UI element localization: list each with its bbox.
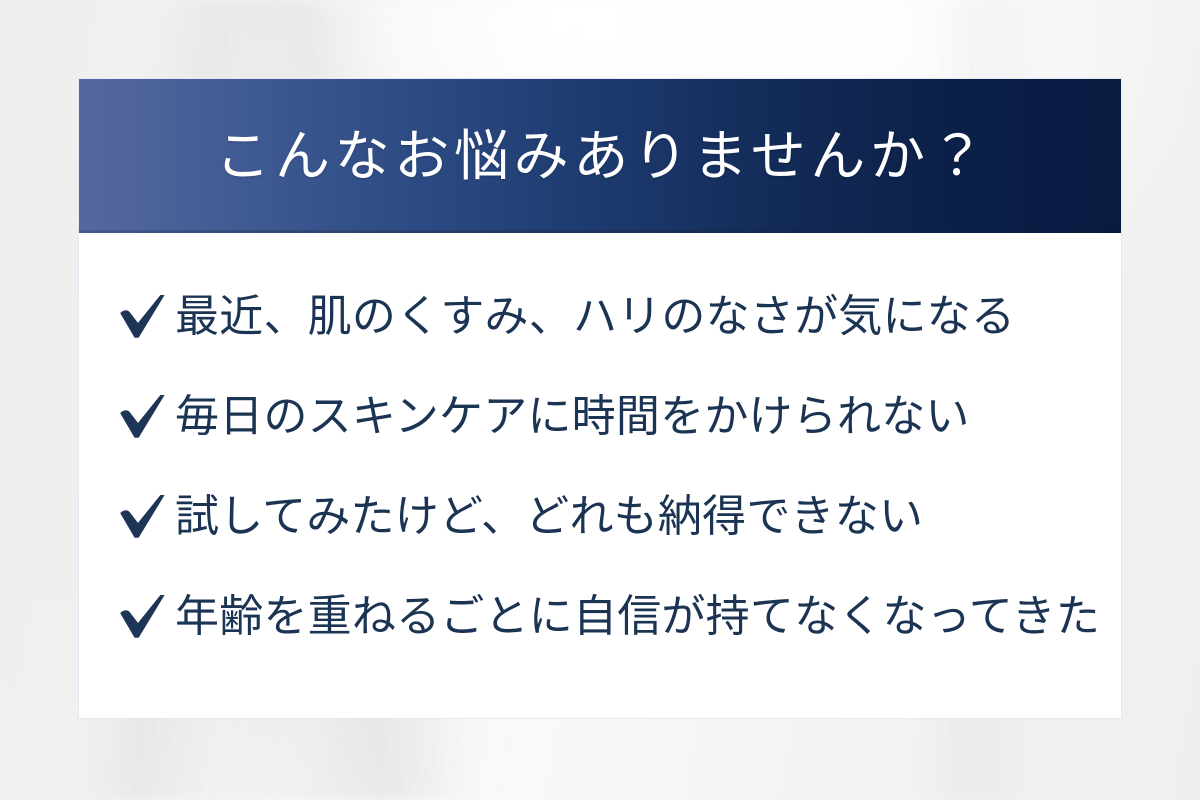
check-icon (117, 591, 169, 643)
list-item-label: 毎日のスキンケアに時間をかけられない (175, 393, 970, 441)
list-item: 年齢を重ねるごとに自信が持てなくなってきた (117, 567, 1121, 667)
list-item: 最近、肌のくすみ、ハリのなさが気になる (117, 267, 1121, 367)
list-item-label: 年齢を重ねるごとに自信が持てなくなってきた (175, 593, 1100, 641)
page-stage: こんなお悩みありませんか？ 最近、肌のくすみ、ハリのなさが気になる (0, 0, 1200, 800)
list-item: 試してみたけど、どれも納得できない (117, 467, 1121, 567)
check-icon (117, 491, 169, 543)
list-item-label: 試してみたけど、どれも納得できない (175, 493, 923, 541)
card-header-band: こんなお悩みありませんか？ (79, 79, 1121, 233)
card-body: 最近、肌のくすみ、ハリのなさが気になる 毎日のスキンケアに時間をかけられない (79, 233, 1121, 667)
check-icon (117, 291, 169, 343)
check-icon (117, 391, 169, 443)
page-title: こんなお悩みありませんか？ (211, 129, 990, 184)
problem-card: こんなお悩みありませんか？ 最近、肌のくすみ、ハリのなさが気になる (79, 79, 1121, 718)
list-item: 毎日のスキンケアに時間をかけられない (117, 367, 1121, 467)
problem-list: 最近、肌のくすみ、ハリのなさが気になる 毎日のスキンケアに時間をかけられない (117, 267, 1121, 667)
list-item-label: 最近、肌のくすみ、ハリのなさが気になる (175, 293, 1015, 341)
